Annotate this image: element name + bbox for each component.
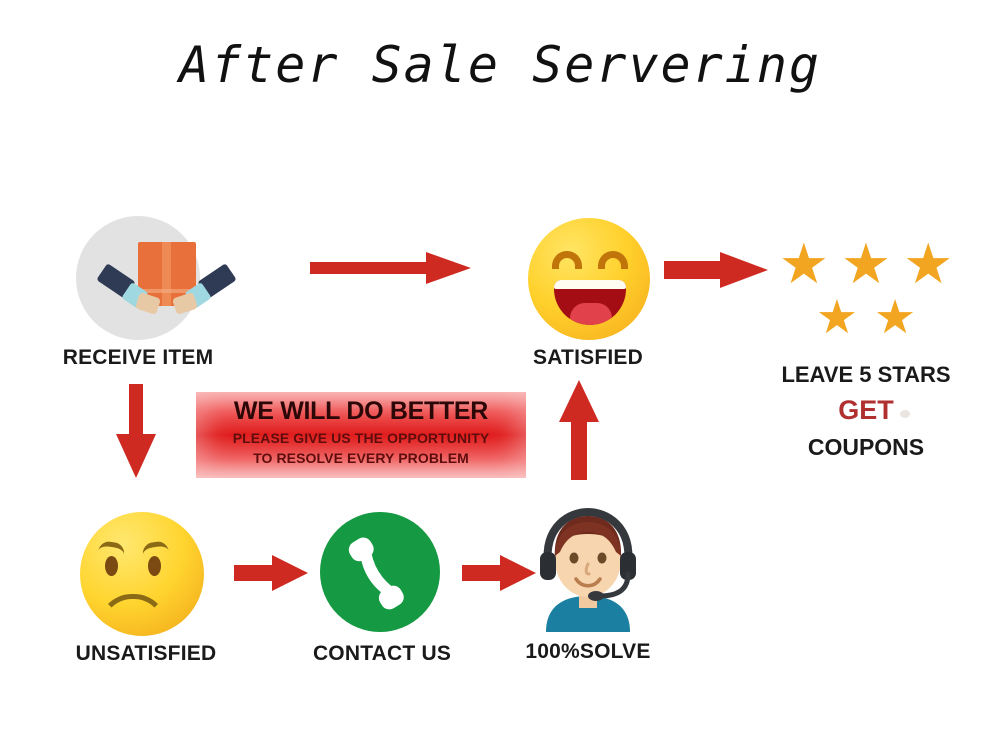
we-will-do-better-banner: WE WILL DO BETTER PLEASE GIVE US THE OPP… <box>196 392 526 478</box>
telephone-handset-glyph <box>334 530 420 616</box>
parcel-handoff-icon <box>76 216 200 340</box>
star-icon: ★ <box>779 238 829 290</box>
banner-headline: WE WILL DO BETTER <box>196 397 526 426</box>
sad-eye-left-shape <box>105 556 118 576</box>
banner-subline-2: TO RESOLVE EVERY PROBLEM <box>196 450 526 466</box>
flow-node-receive-item: RECEIVE ITEM <box>48 216 228 366</box>
sad-eye-right-shape <box>148 556 161 576</box>
arrow-down-icon <box>112 382 160 480</box>
page-title: After Sale Servering <box>0 36 1000 94</box>
star-row-bottom: ★ ★ <box>748 294 984 339</box>
get-label: GET <box>748 395 984 426</box>
arrow-right-icon <box>662 250 770 290</box>
flow-node-label-contact-us: CONTACT US <box>296 642 468 666</box>
banner-subline-1: PLEASE GIVE US THE OPPORTUNITY <box>196 430 526 446</box>
tongue-shape <box>570 303 612 325</box>
star-icon: ★ <box>841 238 891 290</box>
arrow-right-icon <box>232 552 310 594</box>
coupons-label: COUPONS <box>748 434 984 461</box>
flow-node-satisfied: SATISFIED <box>498 218 678 368</box>
flow-node-label-solve: 100%SOLVE <box>500 640 676 664</box>
flow-node-contact-us: CONTACT US <box>296 512 468 662</box>
arrow-up-icon <box>556 378 602 482</box>
arrow-right-icon <box>308 248 473 288</box>
star-icon: ★ <box>816 294 858 339</box>
teeth-shape <box>554 280 626 289</box>
leave-5-stars-label: LEAVE 5 STARS <box>748 362 984 388</box>
parcel-stripe-shape <box>162 242 171 306</box>
flow-node-label-satisfied: SATISFIED <box>498 346 678 370</box>
flow-node-unsatisfied: UNSATISFIED <box>60 512 232 662</box>
reward-block: ★ ★ ★ ★ ★ LEAVE 5 STARS GET COUPONS <box>748 238 984 468</box>
star-row-top: ★ ★ ★ <box>748 238 984 290</box>
star-icon: ★ <box>874 294 916 339</box>
smudge-artifact <box>900 410 910 418</box>
star-icon: ★ <box>903 238 953 290</box>
arrow-right-icon <box>460 552 538 594</box>
infographic-canvas: After Sale Servering RECEIVE ITEM SATISF… <box>0 0 1000 750</box>
flow-node-label-unsatisfied: UNSATISFIED <box>60 642 232 666</box>
support-agent-icon <box>530 508 646 632</box>
flow-node-label-receive-item: RECEIVE ITEM <box>48 346 228 370</box>
